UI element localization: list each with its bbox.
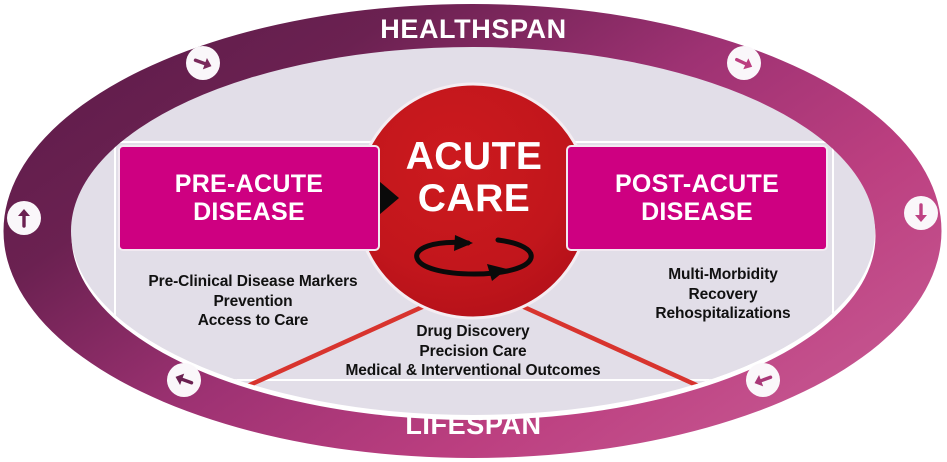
- ring-arrow-right: [904, 196, 938, 230]
- post-acute-disease-box[interactable]: POST-ACUTE DISEASE: [566, 145, 828, 251]
- pre-acute-disease-line2: DISEASE: [193, 198, 305, 226]
- diagram-canvas: HEALTHSPAN LIFESPAN PRE-ACUTE DISEASE PO…: [0, 0, 947, 462]
- ring-arrow-left: [7, 201, 41, 235]
- ring-arrow-bottom-left: [167, 363, 201, 397]
- pre-acute-disease-line1: PRE-ACUTE: [175, 170, 324, 198]
- ring-arrow-top-left: [186, 46, 220, 80]
- post-acute-disease-line1: POST-ACUTE: [615, 170, 779, 198]
- post-acute-disease-line2: DISEASE: [641, 198, 753, 226]
- ring-arrow-top-right: [727, 46, 761, 80]
- pre-acute-disease-box[interactable]: PRE-ACUTE DISEASE: [118, 145, 380, 251]
- ring-arrow-bottom-right: [746, 363, 780, 397]
